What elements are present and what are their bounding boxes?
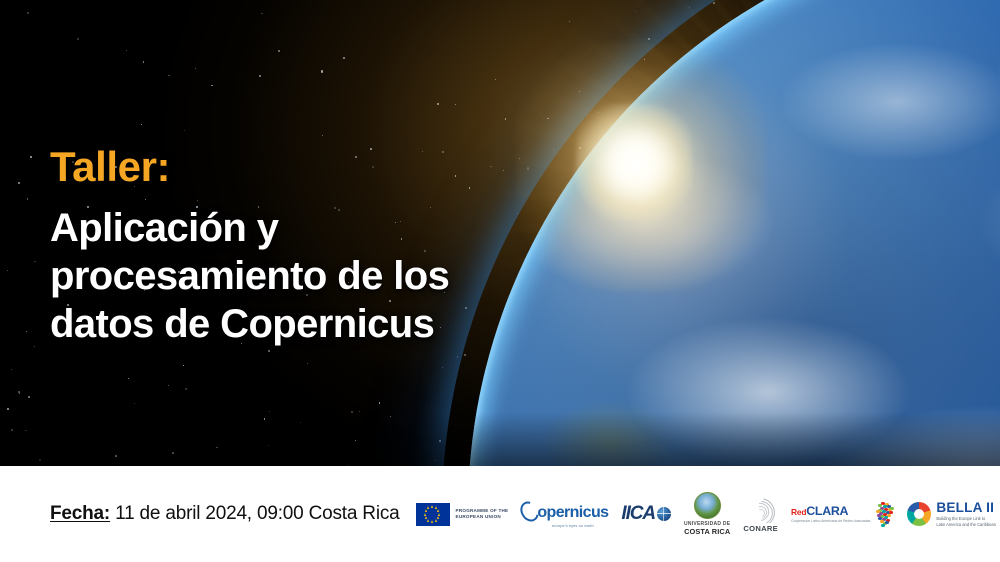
redclara-word-blue: CLARA: [806, 504, 848, 518]
headline-line-3: datos de Copernicus: [50, 300, 670, 348]
bella-wordmark: BELLA II: [936, 501, 996, 515]
ucr-seal-icon: [694, 492, 721, 519]
date-value: 11 de abril 2024, 09:00 Costa Rica: [115, 503, 399, 524]
headline-line-1: Aplicación y: [50, 204, 670, 252]
eu-caption-line-2: EUROPEAN UNION: [456, 514, 509, 520]
event-headline: Aplicación y procesamiento de los datos …: [50, 204, 670, 348]
eu-flag-caption: PROGRAMME OF THE EUROPEAN UNION: [456, 508, 509, 520]
event-date: Fecha: 11 de abril 2024, 09:00 Costa Ric…: [50, 503, 400, 525]
redclara-word-red: Red: [791, 507, 806, 517]
hero-space-banner: Taller: Aplicación y procesamiento de lo…: [0, 0, 1000, 466]
logo-universidad-de-costa-rica: UNIVERSIDAD DE COSTA RICA: [684, 492, 730, 536]
logo-conare: CONARE: [743, 496, 778, 533]
copernicus-wordmark: opernicus: [537, 504, 608, 522]
conare-swirl-icon: [746, 496, 776, 523]
logo-iica: IICA: [621, 503, 671, 525]
logo-redclara: Red CLARA Cooperación Latino Americana d…: [791, 501, 894, 527]
copernicus-tagline: europe's eyes on earth: [552, 523, 594, 528]
conare-wordmark: CONARE: [743, 524, 778, 533]
poster-canvas: Taller: Aplicación y procesamiento de lo…: [0, 0, 1000, 562]
logo-copernicus: opernicus europe's eyes on earth: [521, 501, 608, 528]
bella-tagline: Building the Europe Link to Latin Americ…: [936, 516, 996, 527]
iica-wordmark: IICA: [621, 503, 655, 525]
footer-bar: Fecha: 11 de abril 2024, 09:00 Costa Ric…: [0, 466, 1000, 562]
headline-line-2: procesamiento de los: [50, 252, 670, 300]
ucr-caption-line-2: COSTA RICA: [684, 527, 730, 536]
iica-globe-icon: [657, 507, 671, 521]
bella-tagline-line-2: Latin America and the Caribbean: [936, 522, 996, 528]
logo-european-union: PROGRAMME OF THE EUROPEAN UNION: [416, 503, 509, 526]
sponsor-logo-row: PROGRAMME OF THE EUROPEAN UNION opernicu…: [416, 492, 1000, 536]
title-block: Taller: Aplicación y procesamiento de lo…: [50, 146, 670, 348]
date-label: Fecha:: [50, 503, 110, 524]
redclara-map-icon: [872, 501, 894, 527]
eu-flag-icon: [416, 503, 450, 526]
hero-bottom-fade: [0, 412, 1000, 466]
redclara-tagline: Cooperación Latino Americana de Redes Av…: [791, 519, 870, 523]
event-kicker: Taller:: [50, 146, 670, 188]
logo-bella-ii: BELLA II Building the Europe Link to Lat…: [907, 501, 996, 528]
bella-circle-icon: [907, 502, 931, 526]
